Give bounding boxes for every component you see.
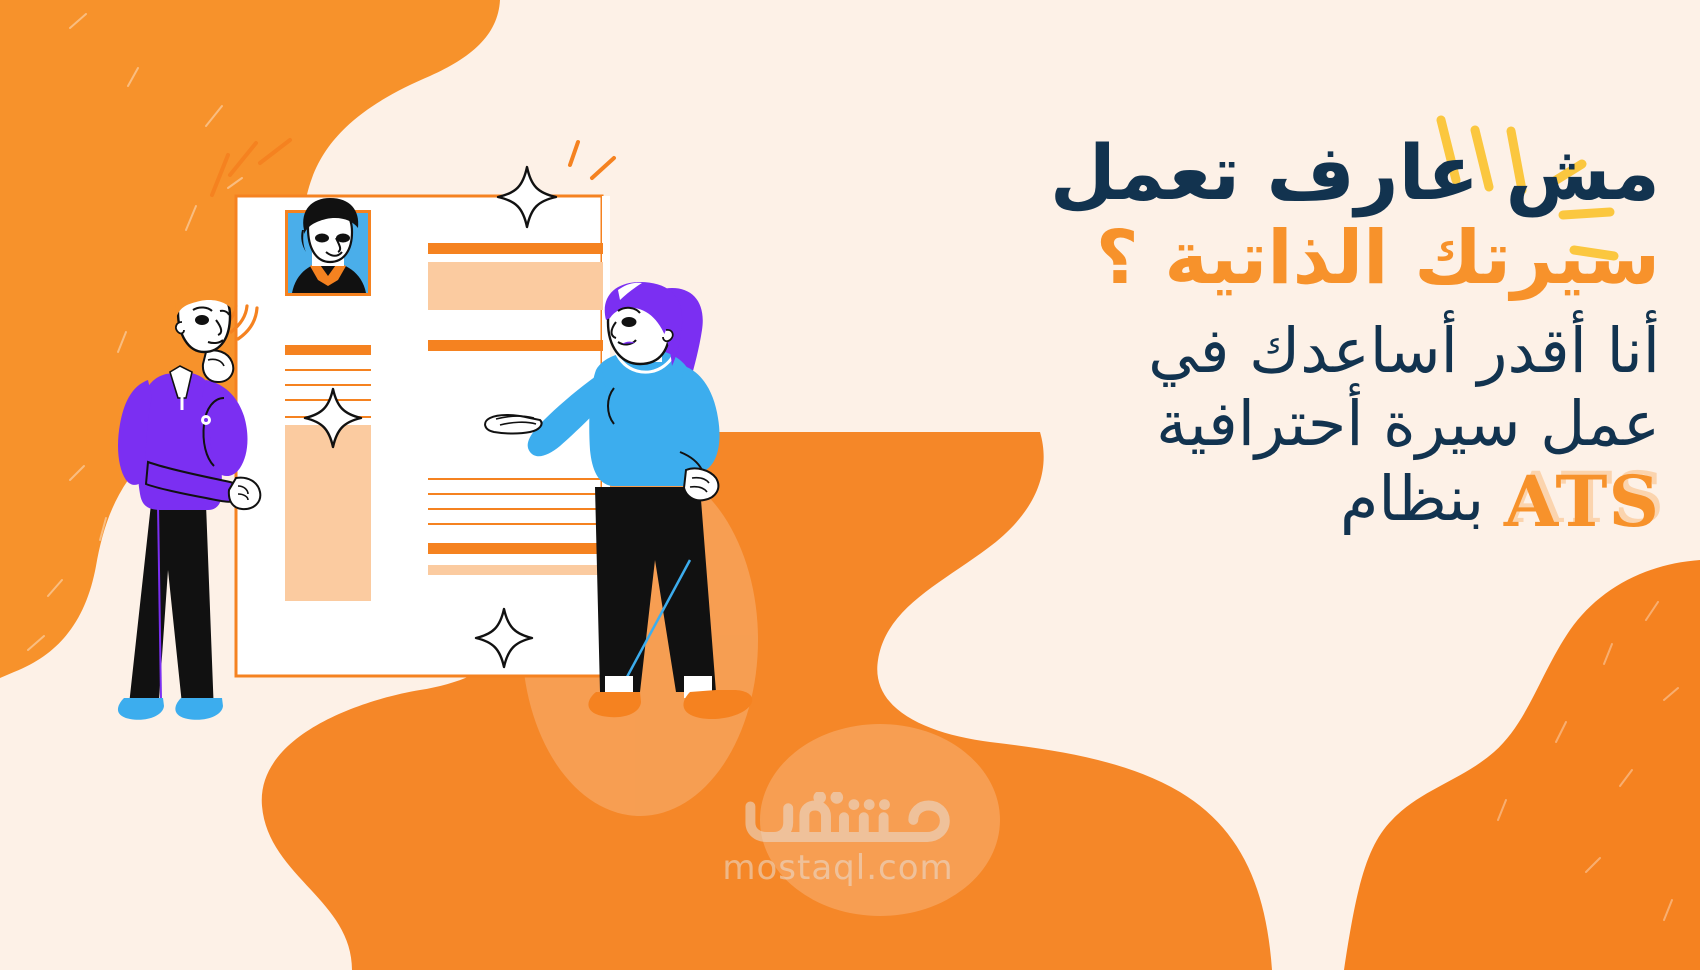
headline-line-5-prefix: بنظام (1340, 462, 1484, 535)
headline-line-3: أنا أقدر أساعدك في (940, 314, 1660, 387)
headline-line-1: مش عارف تعمل (940, 130, 1660, 215)
mostaql-domain-label: mostaql.com (688, 848, 988, 888)
headline-line-4: عمل سيرة أحترافية (940, 387, 1660, 460)
mostaql-arabic-logo-icon (718, 792, 988, 846)
mostaql-watermark: mostaql.com (688, 792, 988, 888)
headline-block: مش عارف تعمل سيرتك الذاتية ؟ أنا أقدر أس… (940, 130, 1660, 544)
ats-badge: ATS (1504, 460, 1660, 544)
headline-line-2: سيرتك الذاتية ؟ (940, 217, 1660, 300)
poster-canvas: مش عارف تعمل سيرتك الذاتية ؟ أنا أقدر أس… (0, 0, 1700, 970)
headline-line-5: ATS بنظام (940, 460, 1660, 544)
